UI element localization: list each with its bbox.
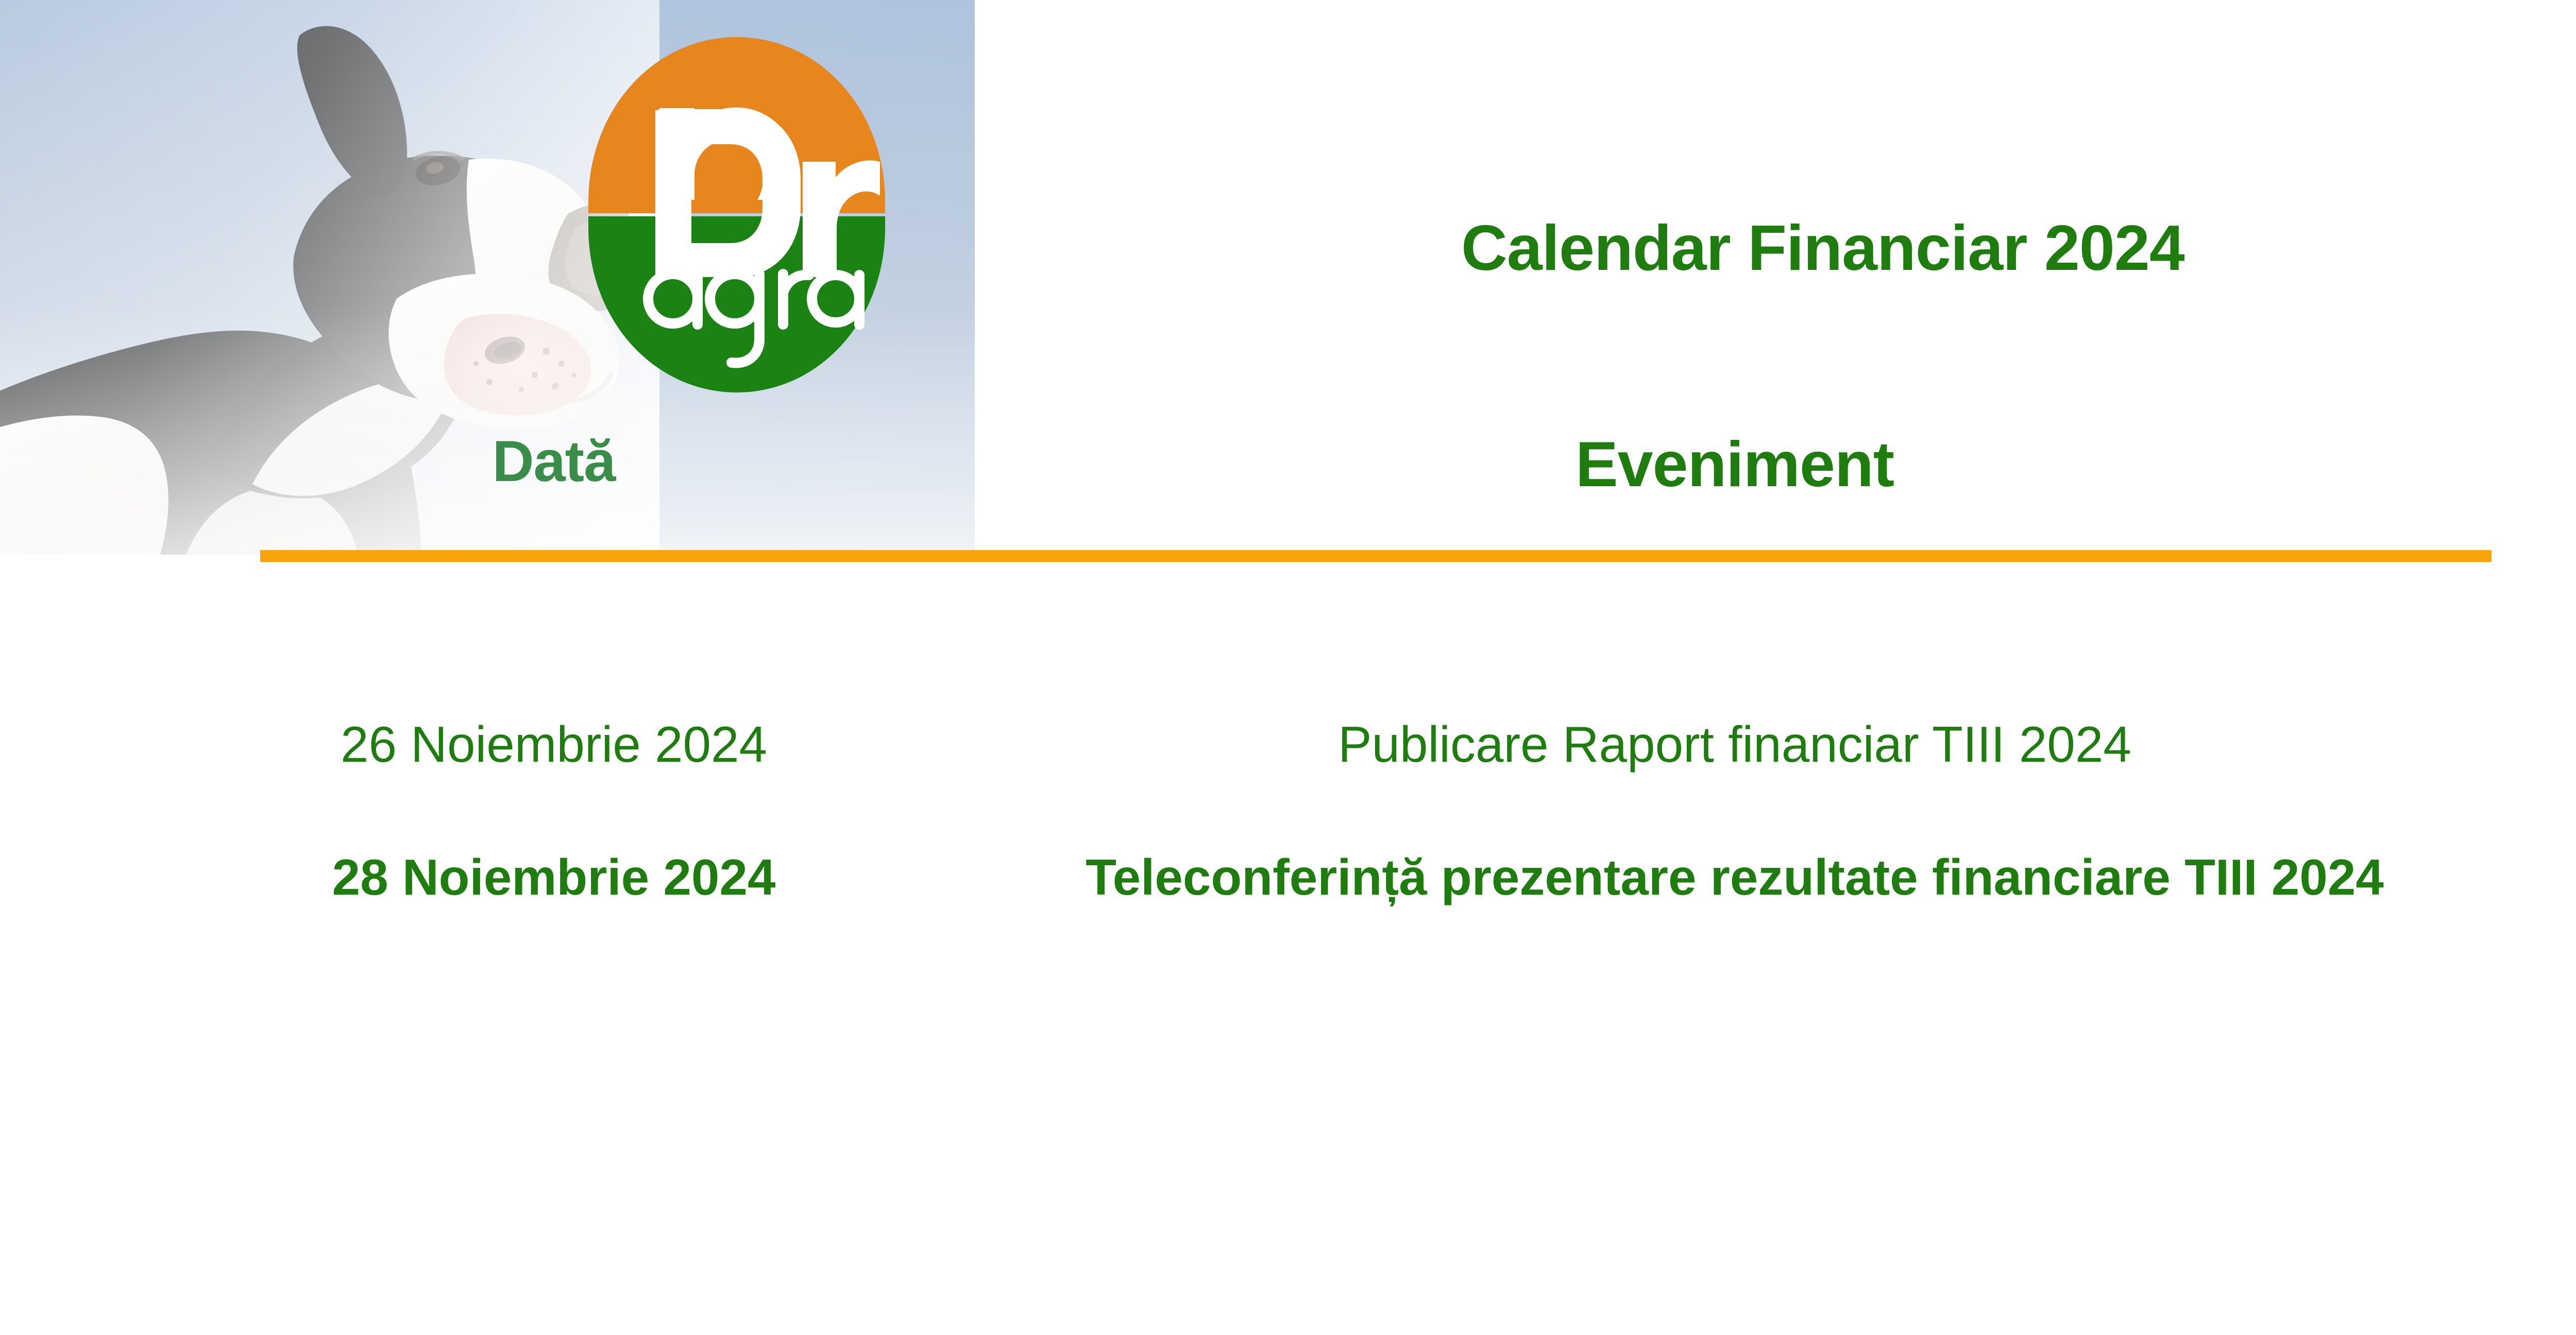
table-cell-date: 26 Noiembrie 2024: [260, 719, 848, 769]
table-cell-event: Teleconferință prezentare rezultate fina…: [975, 852, 2495, 902]
column-header-event: Eveniment: [975, 433, 2495, 497]
table-cell-date: 28 Noiembrie 2024: [260, 852, 848, 902]
dn-agrar-logo: [582, 32, 891, 398]
table-cell-event: Publicare Raport financiar TIII 2024: [975, 719, 2495, 769]
financial-calendar-table: 26 Noiembrie 2024 Publicare Raport finan…: [0, 700, 2576, 966]
table-row: 26 Noiembrie 2024 Publicare Raport finan…: [0, 700, 2576, 833]
financial-calendar-page: Calendar Financiar 2024 Dată Eveniment 2…: [0, 0, 2576, 1335]
page-title: Calendar Financiar 2024: [975, 216, 2576, 280]
header-divider-rule: [260, 550, 2492, 562]
table-row: 28 Noiembrie 2024 Teleconferință prezent…: [0, 833, 2576, 966]
column-header-date: Dată: [260, 433, 848, 490]
